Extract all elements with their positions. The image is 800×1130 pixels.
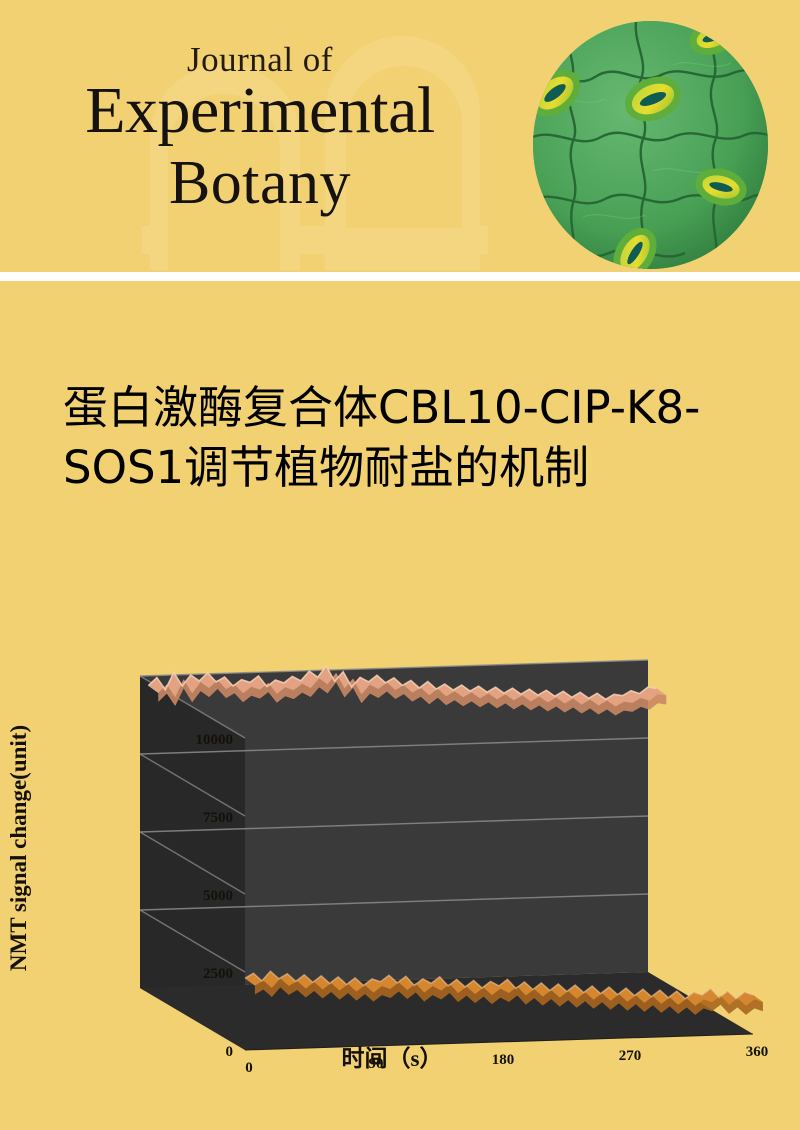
leaf-epidermis-stomata-micrograph	[533, 21, 768, 269]
y-axis-tick-label: 0	[226, 1044, 234, 1060]
article-title: 蛋白激酶复合体CBL10-CIP-K8-SOS1调节植物耐盐的机制	[63, 378, 753, 498]
nmt-signal-3d-chart: 025005000750010000090180270360NMT signal…	[0, 648, 800, 1118]
masthead: Journal of Experimental Botany	[0, 0, 800, 272]
journal-title-line-2: Experimental	[0, 78, 520, 144]
y-axis-tick-label: 10000	[196, 732, 234, 748]
journal-title-line-3: Botany	[0, 152, 520, 214]
x-axis-tick-label: 0	[245, 1060, 253, 1076]
y-axis-title: NMT signal change(unit)	[6, 725, 31, 971]
y-axis-tick-label: 7500	[203, 810, 233, 826]
masthead-divider	[0, 272, 800, 281]
y-axis-tick-label: 5000	[203, 888, 233, 904]
journal-cover-page: Journal of Experimental Botany	[0, 0, 800, 1130]
journal-wordmark: Journal of Experimental Botany	[0, 0, 520, 272]
y-axis-tick-label: 2500	[203, 966, 233, 982]
x-axis-tick-label: 270	[619, 1048, 642, 1064]
x-axis-title: 时间（s）	[342, 1045, 443, 1071]
x-axis-tick-label: 360	[746, 1044, 769, 1060]
x-axis-tick-label: 180	[492, 1052, 515, 1068]
